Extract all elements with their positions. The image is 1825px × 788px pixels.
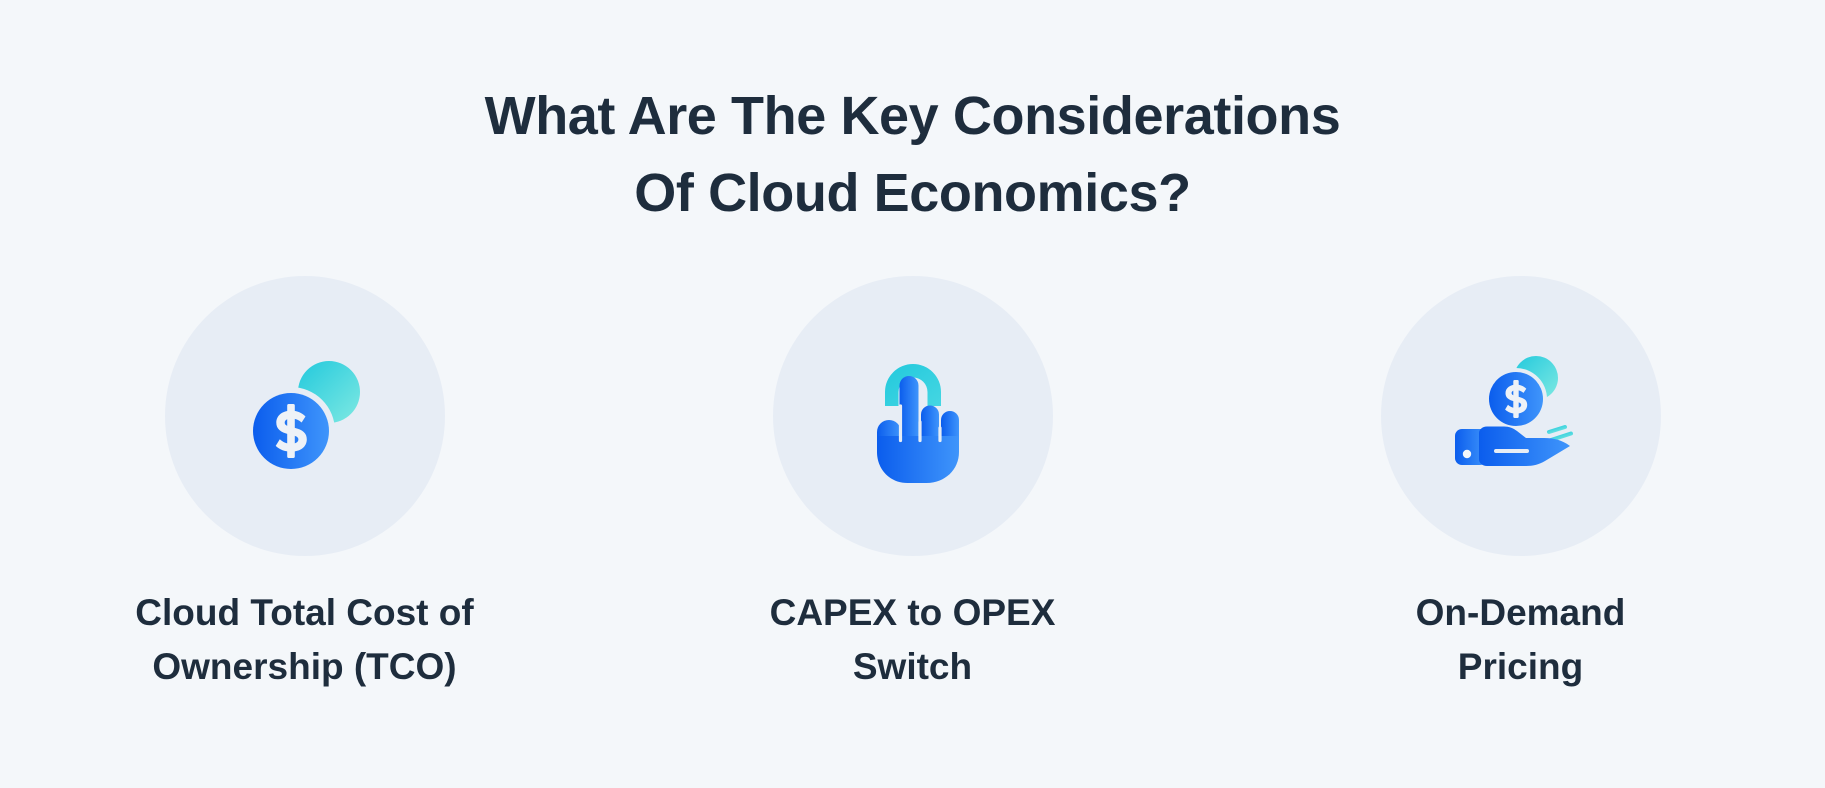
consideration-item-capex-opex: CAPEX to OPEX Switch [609, 276, 1217, 694]
page-title-line-2: Of Cloud Economics? [0, 155, 1825, 232]
tap-gesture-icon [833, 336, 993, 496]
hand-holding-coin-icon [1441, 336, 1601, 496]
consideration-item-on-demand-pricing: On-Demand Pricing [1217, 276, 1825, 694]
consideration-list: Cloud Total Cost of Ownership (TCO) [0, 276, 1825, 694]
page-title: What Are The Key Considerations Of Cloud… [0, 78, 1825, 232]
consideration-label-line-1: Cloud Total Cost of [135, 586, 473, 640]
icon-background-circle [773, 276, 1053, 556]
consideration-item-tco: Cloud Total Cost of Ownership (TCO) [1, 276, 609, 694]
consideration-label-line-2: Switch [770, 640, 1056, 694]
coin-dollar-icon [225, 336, 385, 496]
icon-background-circle [165, 276, 445, 556]
consideration-label-line-2: Pricing [1416, 640, 1626, 694]
icon-background-circle [1381, 276, 1661, 556]
consideration-label-line-1: CAPEX to OPEX [770, 586, 1056, 640]
consideration-label: Cloud Total Cost of Ownership (TCO) [135, 586, 473, 694]
consideration-label-line-1: On-Demand [1416, 586, 1626, 640]
infographic-page: What Are The Key Considerations Of Cloud… [0, 0, 1825, 788]
consideration-label: On-Demand Pricing [1416, 586, 1626, 694]
consideration-label: CAPEX to OPEX Switch [770, 586, 1056, 694]
page-title-line-1: What Are The Key Considerations [0, 78, 1825, 155]
consideration-label-line-2: Ownership (TCO) [135, 640, 473, 694]
